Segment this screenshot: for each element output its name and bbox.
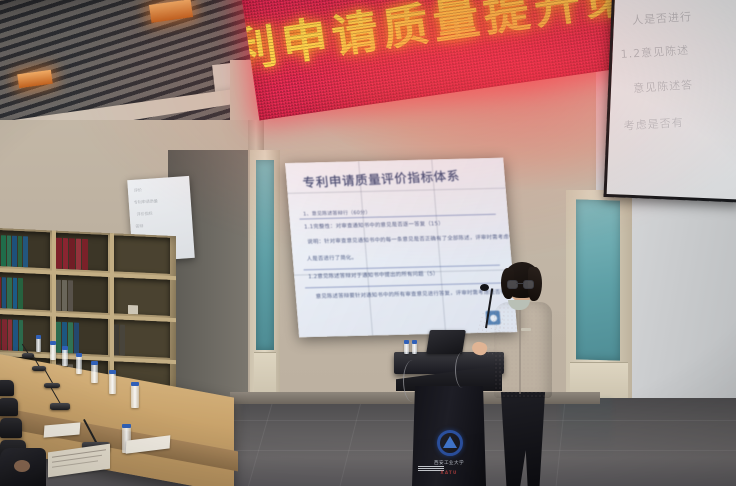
glasses-bridge <box>516 283 523 284</box>
mic-stem <box>485 288 493 328</box>
laptop-cable <box>455 352 470 388</box>
shelf-cell <box>0 272 50 310</box>
lecture-hall-photo: 专利申请质量提升策略 人是否进行 1.2意见陈述 意见陈述答 考虑是否有 评价 … <box>0 0 736 486</box>
presenter <box>488 262 562 486</box>
right-screen-line: 考虑是否有 <box>623 114 684 134</box>
bottle-cap <box>62 346 68 350</box>
attendee-hand <box>14 460 30 472</box>
podium-bottle[interactable] <box>404 343 409 354</box>
gooseneck-microphone[interactable] <box>50 394 70 410</box>
right-screen-line: 意见陈述答 <box>633 76 694 96</box>
presenter-glasses-icon <box>507 280 532 287</box>
bottle-cap <box>50 341 56 345</box>
water-bottle[interactable] <box>91 364 98 383</box>
laptop-lid <box>426 330 466 354</box>
gooseneck-microphone[interactable] <box>44 374 60 388</box>
right-screen-line: 1.2意见陈述 <box>620 42 689 62</box>
bottle-cap <box>76 353 82 357</box>
shelf-cell <box>114 319 170 358</box>
bottle-cap <box>36 335 41 339</box>
bottle-cap <box>412 340 417 344</box>
chair[interactable] <box>0 418 22 438</box>
water-bottle[interactable] <box>76 356 82 374</box>
shelf-cell <box>0 230 50 268</box>
glasses-lens-left <box>507 280 518 289</box>
glasses-lens-right <box>523 280 534 289</box>
water-bottle[interactable] <box>36 338 41 352</box>
jacket-placket <box>519 306 521 394</box>
right-projection-screen: 人是否进行 1.2意见陈述 意见陈述答 考虑是否有 <box>603 0 736 203</box>
podium-bottle[interactable] <box>412 343 417 354</box>
bottle-cap <box>91 361 98 365</box>
right-screen-line: 人是否进行 <box>632 8 693 28</box>
floor-tile-seam <box>247 398 274 486</box>
podium-logo-chinese-text: 西安工业大学 <box>418 460 480 466</box>
left-screen-line: 专利申请质量 <box>134 198 158 206</box>
chair[interactable] <box>0 380 14 396</box>
right-door-glass-panel <box>576 199 620 360</box>
podium-logo-triangle-icon <box>443 436 457 448</box>
mic-base <box>44 383 60 388</box>
podium-logo-english-text: XATU <box>418 470 480 475</box>
shelf-cell <box>114 235 170 274</box>
floor-tile-seam <box>339 398 363 486</box>
left-door-glass-panel <box>256 160 274 350</box>
podium-microphone[interactable] <box>473 288 499 328</box>
bottle-cap <box>404 340 409 344</box>
water-bottle[interactable] <box>50 344 56 360</box>
water-bottle[interactable] <box>131 385 139 408</box>
door-reflection <box>560 398 612 458</box>
bottle-cap <box>109 370 116 374</box>
mic-base <box>50 403 70 410</box>
mic-head <box>480 284 489 291</box>
left-screen-line: 评价指标 <box>136 211 152 218</box>
bottle-cap <box>131 382 139 386</box>
left-screen-line: 答辩 <box>135 223 143 230</box>
presenter-trousers <box>500 392 546 486</box>
left-screen-line: 评价 <box>134 187 142 194</box>
podium-cable <box>403 360 422 402</box>
chair[interactable] <box>0 398 18 416</box>
shelf-cell <box>56 233 108 271</box>
water-bottle[interactable] <box>62 349 68 366</box>
shelf-cell <box>56 275 108 313</box>
bottle-cap <box>122 424 131 428</box>
jacket-brooch <box>521 328 531 331</box>
water-bottle[interactable] <box>109 373 116 394</box>
shelf-cell <box>114 277 170 316</box>
